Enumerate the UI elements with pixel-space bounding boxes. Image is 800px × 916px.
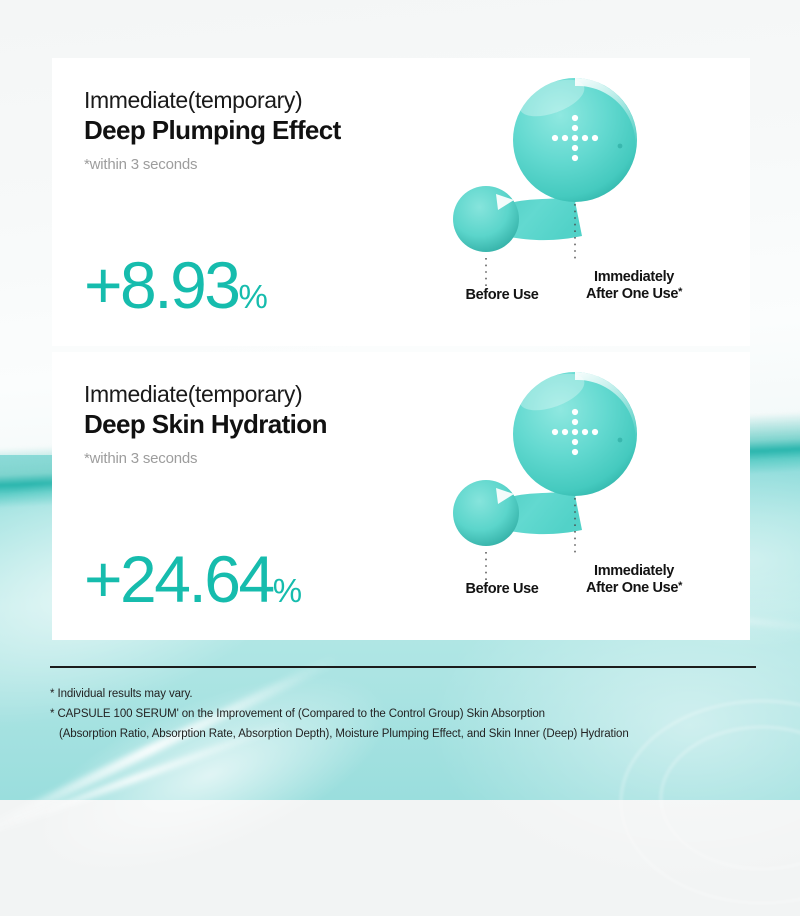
droplet-large-speck	[618, 144, 623, 149]
label-before-use: Before Use	[444, 581, 560, 598]
figure-labels: Before Use Immediately After One Use*	[444, 558, 706, 604]
footer-divider	[50, 666, 756, 668]
footnote-line: * Individual results may vary.	[50, 685, 756, 705]
label-after-line2: After One Use	[586, 286, 678, 302]
card-headline: Deep Plumping Effect	[84, 115, 341, 146]
card-stat: +24.64%	[84, 546, 301, 612]
footnote-line: * CAPSULE 100 SERUM' on the Improvement …	[50, 705, 756, 725]
label-after-line2: After One Use	[586, 580, 678, 596]
card-headline: Deep Skin Hydration	[84, 409, 327, 440]
card-stat-value: +24.64	[84, 542, 273, 616]
label-after-line1: Immediately	[594, 269, 674, 285]
footnote-line: (Absorption Ratio, Absorption Rate, Abso…	[50, 725, 756, 745]
label-after-star: *	[678, 580, 682, 592]
card-note: *within 3 seconds	[84, 156, 341, 173]
claim-card-hydration: Immediate(temporary) Deep Skin Hydration…	[52, 352, 750, 640]
droplet-figure: Before Use Immediately After One Use*	[444, 76, 706, 326]
label-after-line1: Immediately	[594, 563, 674, 579]
label-after-use: Immediately After One Use*	[562, 563, 706, 598]
card-stat-value: +8.93	[84, 248, 239, 322]
droplet-figure: Before Use Immediately After One Use*	[444, 370, 706, 620]
card-text-block: Immediate(temporary) Deep Skin Hydration…	[84, 380, 327, 467]
card-text-block: Immediate(temporary) Deep Plumping Effec…	[84, 86, 341, 173]
label-after-star: *	[678, 286, 682, 298]
card-eyebrow: Immediate(temporary)	[84, 380, 327, 408]
claim-card-plumping: Immediate(temporary) Deep Plumping Effec…	[52, 58, 750, 346]
footnote-list: * Individual results may vary. * CAPSULE…	[50, 685, 756, 744]
card-stat-unit: %	[239, 278, 267, 315]
figure-labels: Before Use Immediately After One Use*	[444, 264, 706, 310]
card-stat: +8.93%	[84, 252, 267, 318]
droplet-small	[453, 186, 519, 252]
label-before-use: Before Use	[444, 287, 560, 304]
card-note: *within 3 seconds	[84, 450, 327, 467]
card-eyebrow: Immediate(temporary)	[84, 86, 341, 114]
label-after-use: Immediately After One Use*	[562, 269, 706, 304]
droplet-small	[453, 480, 519, 546]
droplet-large-speck	[618, 438, 623, 443]
footnotes-section: * Individual results may vary. * CAPSULE…	[50, 666, 756, 744]
card-stat-unit: %	[273, 572, 301, 609]
